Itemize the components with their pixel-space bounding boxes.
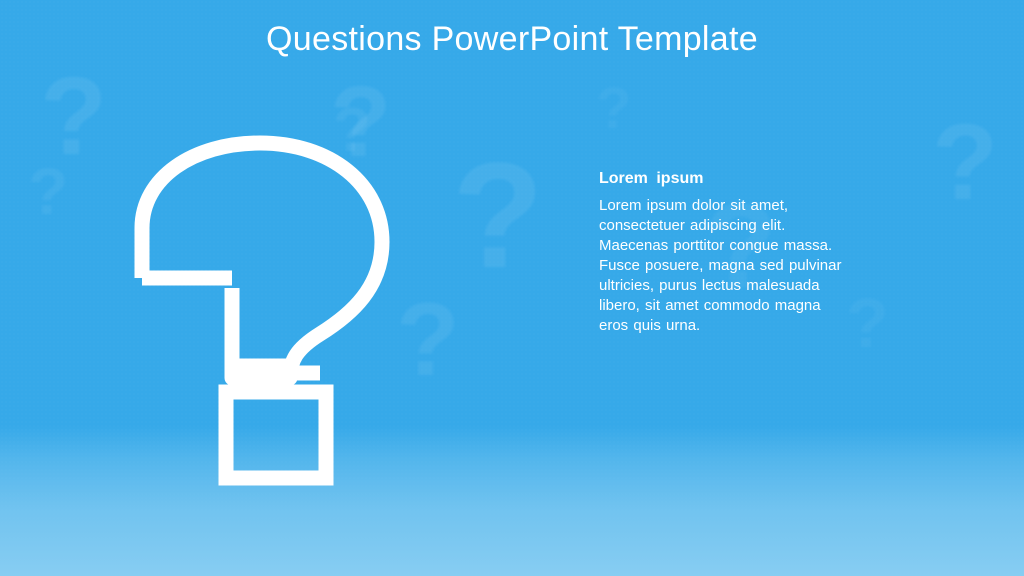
text-block-heading: Lorem ipsum — [599, 170, 899, 188]
slide-canvas: ?????????? Questions PowerPoint Template… — [0, 0, 1024, 576]
page-title: Questions PowerPoint Template — [0, 20, 1024, 59]
body-text-block: Lorem ipsum Lorem ipsum dolor sit amet,c… — [599, 170, 899, 336]
question-mark-outline-icon — [120, 130, 420, 495]
text-block-paragraph: Lorem ipsum dolor sit amet,consectetuer … — [599, 196, 899, 336]
